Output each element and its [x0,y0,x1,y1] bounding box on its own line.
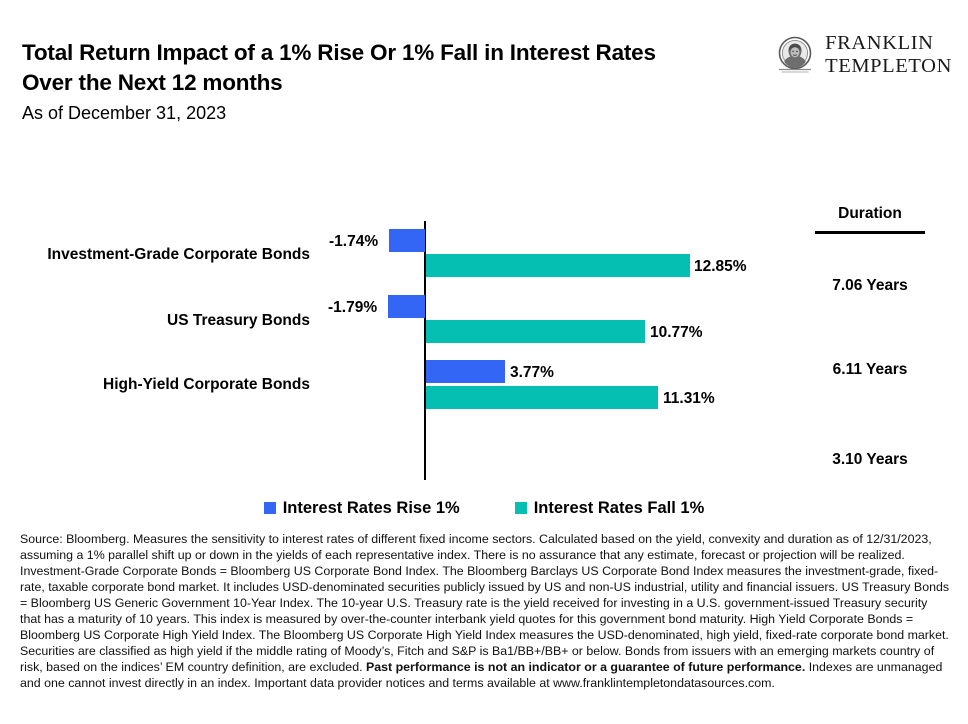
duration-column: Duration [790,206,950,234]
value-label-fall-high-yield: 11.31% [663,391,715,407]
bar-fall-us-treasury [426,320,645,343]
value-label-rise-high-yield: 3.77% [510,365,554,381]
logo-wordmark: FRANKLIN TEMPLETON [825,32,952,79]
bar-fall-high-yield [426,386,658,409]
chart-header: Total Return Impact of a 1% Rise Or 1% F… [0,0,968,130]
duration-value-high-yield: 3.10 Years [790,452,950,468]
bar-rise-us-treasury [388,295,425,318]
footnote-disclosure: Source: Bloomberg. Measures the sensitiv… [20,531,950,691]
category-label-investment-grade: Investment-Grade Corporate Bonds [0,247,310,263]
bar-rise-high-yield [426,360,505,383]
category-label-us-treasury: US Treasury Bonds [0,313,310,329]
legend-swatch-rise-icon [264,502,276,514]
franklin-portrait-medallion-icon [774,34,816,76]
chart-legend: Interest Rates Rise 1% Interest Rates Fa… [0,500,968,517]
page-title: Total Return Impact of a 1% Rise Or 1% F… [22,38,682,98]
value-label-fall-us-treasury: 10.77% [650,325,703,341]
category-label-high-yield: High-Yield Corporate Bonds [0,377,310,393]
legend-swatch-fall-icon [515,502,527,514]
bar-rise-investment-grade [389,229,425,252]
legend-item-rates-fall[interactable]: Interest Rates Fall 1% [515,500,705,517]
legend-label-rates-fall: Interest Rates Fall 1% [534,500,705,517]
footnote-part1: Source: Bloomberg. Measures the sensitiv… [20,532,949,674]
value-label-rise-investment-grade: -1.74% [329,234,378,250]
value-label-fall-investment-grade: 12.85% [694,259,747,275]
duration-value-investment-grade: 7.06 Years [790,278,950,294]
page-subtitle: As of December 31, 2023 [22,102,682,125]
legend-label-rates-rise: Interest Rates Rise 1% [283,500,460,517]
value-label-rise-us-treasury: -1.79% [328,300,377,316]
duration-column-divider [815,231,925,234]
footnote-bold-warning: Past performance is not an indicator or … [366,660,805,674]
title-block: Total Return Impact of a 1% Rise Or 1% F… [22,38,682,125]
logo-wordmark-line2: TEMPLETON [825,55,952,78]
bar-fall-investment-grade [426,254,690,277]
logo-wordmark-line1: FRANKLIN [825,32,952,55]
legend-item-rates-rise[interactable]: Interest Rates Rise 1% [264,500,460,517]
duration-value-us-treasury: 6.11 Years [790,362,950,378]
zero-axis-line [424,221,426,480]
duration-column-header: Duration [790,206,950,222]
franklin-templeton-logo: FRANKLIN TEMPLETON [774,32,952,79]
